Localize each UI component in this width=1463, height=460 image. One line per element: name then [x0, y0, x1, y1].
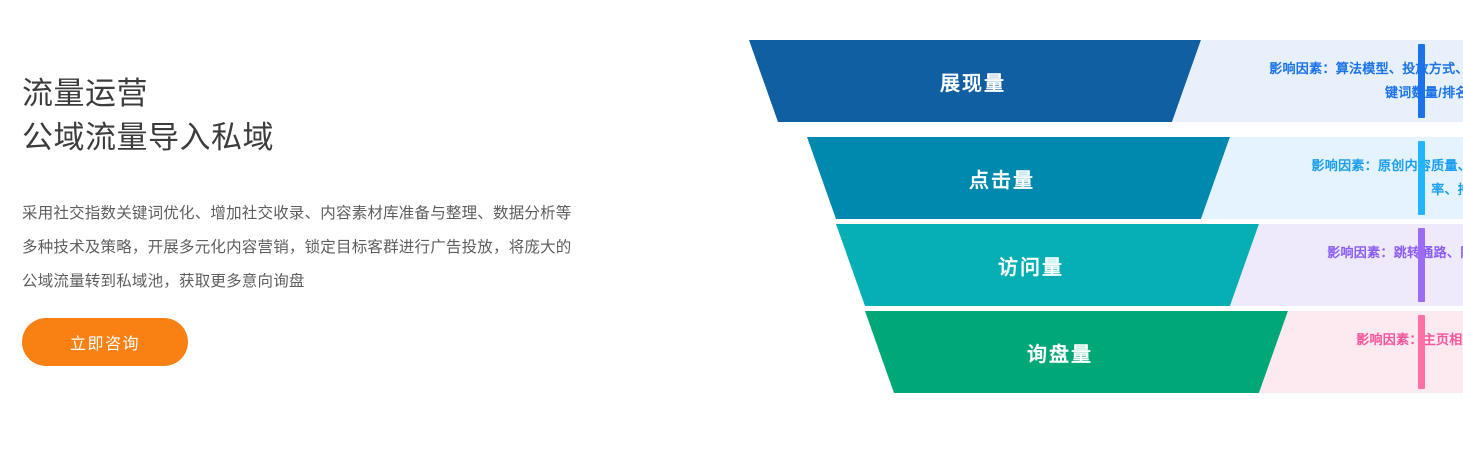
- page-title-line-2: 公域流量导入私域: [22, 116, 682, 160]
- funnel-stage-label: 点击量: [969, 164, 1035, 193]
- funnel-accent-bar: [1418, 141, 1425, 215]
- funnel-accent-bar: [1418, 228, 1425, 302]
- funnel-accent-bar: [1418, 315, 1425, 389]
- intro-text-block: 流量运营 公域流量导入私域 采用社交指数关键词优化、增加社交收录、内容素材库准备…: [22, 72, 682, 299]
- funnel-stage-shape-impressions[interactable]: 展现量: [745, 40, 1201, 122]
- page-description: 采用社交指数关键词优化、增加社交收录、内容素材库准备与整理、数据分析等 多种技术…: [22, 160, 672, 299]
- funnel-note-text: 影响因素：跳转通路、网站质量、跳转速度等: [1318, 241, 1463, 289]
- funnel-accent-bar: [1418, 44, 1425, 118]
- funnel-note-panel-visits: 影响因素：跳转通路、网站质量、跳转速度等: [1230, 224, 1463, 306]
- conversion-funnel-diagram: 展现量 影响因素：算法模型、投放方式、关键词数量/排名等 点击量 影响因素：原创…: [745, 40, 1435, 400]
- funnel-stage-row: 询盘量 影响因素：主页相关性、互动方便性等: [745, 311, 1435, 393]
- funnel-stage-shape-visits[interactable]: 访问量: [803, 224, 1259, 306]
- page-title-line-1: 流量运营: [22, 72, 682, 116]
- funnel-stage-shape-clicks[interactable]: 点击量: [774, 137, 1230, 219]
- funnel-stage-label: 询盘量: [1027, 338, 1093, 367]
- description-line-2: 多种技术及策略，开展多元化内容营销，锁定目标客群进行广告投放，将庞大的: [22, 231, 672, 265]
- description-line-1: 采用社交指数关键词优化、增加社交收录、内容素材库准备与整理、数据分析等: [22, 197, 672, 231]
- consult-now-button[interactable]: 立即咨询: [22, 318, 188, 366]
- page-title: 流量运营 公域流量导入私域: [22, 72, 682, 160]
- funnel-note-text: 影响因素：主页相关性、互动方便性等: [1347, 328, 1463, 376]
- funnel-note-text: 影响因素：原创内容质量、更新频率、持续性等: [1289, 154, 1463, 202]
- funnel-stage-label: 访问量: [998, 251, 1064, 280]
- funnel-note-text: 影响因素：算法模型、投放方式、关键词数量/排名等: [1260, 57, 1463, 105]
- funnel-stage-label: 展现量: [940, 67, 1006, 96]
- funnel-stage-row: 展现量 影响因素：算法模型、投放方式、关键词数量/排名等: [745, 40, 1435, 122]
- funnel-note-panel-inquiries: 影响因素：主页相关性、互动方便性等: [1259, 311, 1463, 393]
- page-root: 流量运营 公域流量导入私域 采用社交指数关键词优化、增加社交收录、内容素材库准备…: [0, 0, 1463, 460]
- funnel-stage-row: 点击量 影响因素：原创内容质量、更新频率、持续性等: [745, 137, 1435, 219]
- funnel-stage-row: 访问量 影响因素：跳转通路、网站质量、跳转速度等: [745, 224, 1435, 306]
- description-line-3: 公域流量转到私域池，获取更多意向询盘: [22, 265, 672, 299]
- funnel-stage-shape-inquiries[interactable]: 询盘量: [832, 311, 1288, 393]
